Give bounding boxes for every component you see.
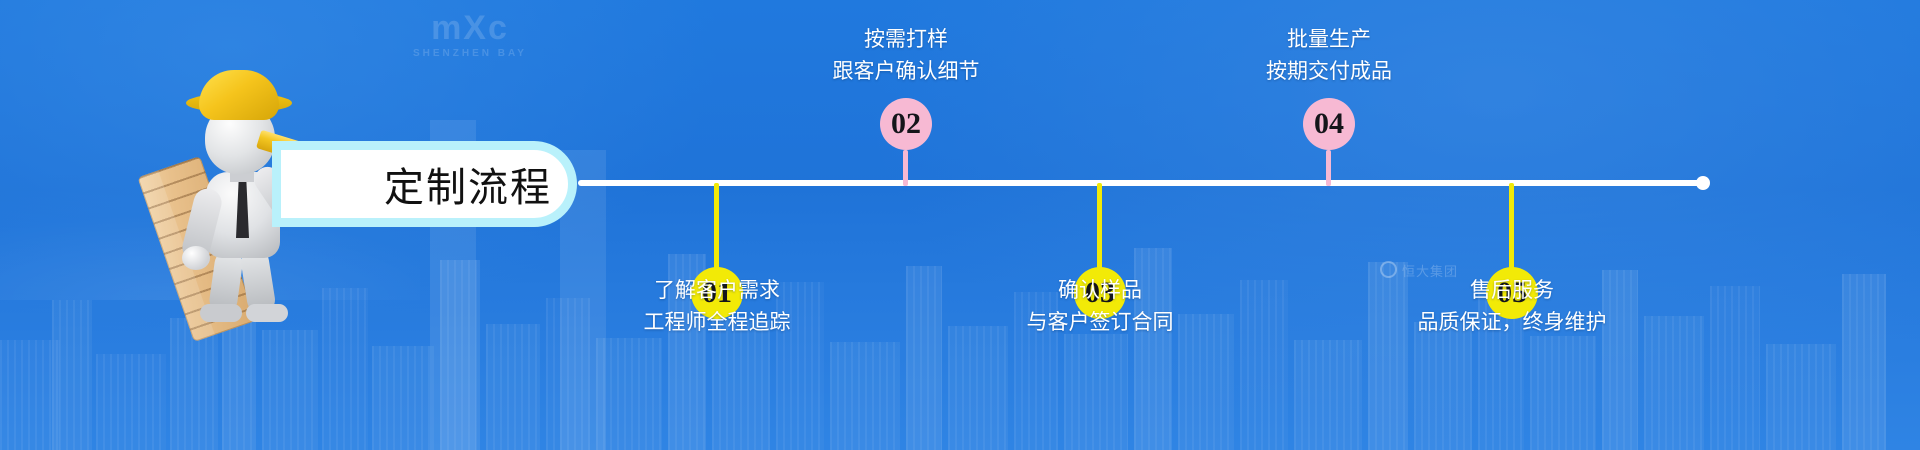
step-caption-02-line-1: 按需打样 [755,24,1057,56]
step-number-02: 02 [880,98,932,150]
timeline-end-dot [1696,176,1710,190]
hand-left [182,246,210,270]
building [52,300,92,450]
step-caption-04: 批量生产 按期交付成品 [1178,24,1480,88]
step-caption-03-line-1: 确认样品 [949,275,1251,307]
step-caption-05-line-1: 售后服务 [1361,275,1663,307]
timeline-bar [578,180,1708,186]
building [1064,334,1128,450]
building [0,340,60,450]
step-stem-01 [714,183,719,269]
step-number-04: 04 [1303,98,1355,150]
step-caption-05: 售后服务 品质保证，终身维护 [1361,275,1663,339]
building [96,354,166,450]
step-caption-04-line-2: 按期交付成品 [1178,56,1480,88]
step-caption-02-line-2: 跟客户确认细节 [755,56,1057,88]
building [1766,344,1836,450]
building [712,320,770,450]
building [1414,322,1472,450]
step-caption-01-line-2: 工程师全程追踪 [566,307,868,339]
building [486,324,540,450]
banner-stage: mXc SHENZHEN BAY 恒大集团 定制流程 01 了解 [0,0,1920,450]
building [830,342,900,450]
page-title-pill: 定制流程 [272,141,577,227]
building [948,326,1008,450]
step-caption-05-line-2: 品质保证，终身维护 [1361,307,1663,339]
step-stem-03 [1097,183,1102,269]
step-stem-04 [1326,150,1331,186]
building [906,266,942,450]
foot-left [200,304,242,322]
watermark-logo: mXc SHENZHEN BAY [400,8,540,68]
step-caption-03: 确认样品 与客户签订合同 [949,275,1251,339]
foot-right [246,304,288,322]
building [1710,286,1760,450]
step-caption-01: 了解客户需求 工程师全程追踪 [566,275,868,339]
step-caption-04-line-1: 批量生产 [1178,24,1480,56]
step-caption-01-line-1: 了解客户需求 [566,275,868,307]
building [1530,336,1596,450]
building [1842,274,1886,450]
step-stem-02 [903,150,908,186]
hard-hat-icon [199,70,279,120]
watermark-logo-text: mXc [431,9,509,47]
building [372,346,434,450]
step-caption-02: 按需打样 跟客户确认细节 [755,24,1057,88]
watermark-logo-subtext: SHENZHEN BAY [400,48,540,60]
page-title: 定制流程 [281,150,552,218]
building [262,330,318,450]
step-stem-05 [1509,183,1514,269]
building [1294,340,1362,450]
step-caption-03-line-2: 与客户签订合同 [949,307,1251,339]
